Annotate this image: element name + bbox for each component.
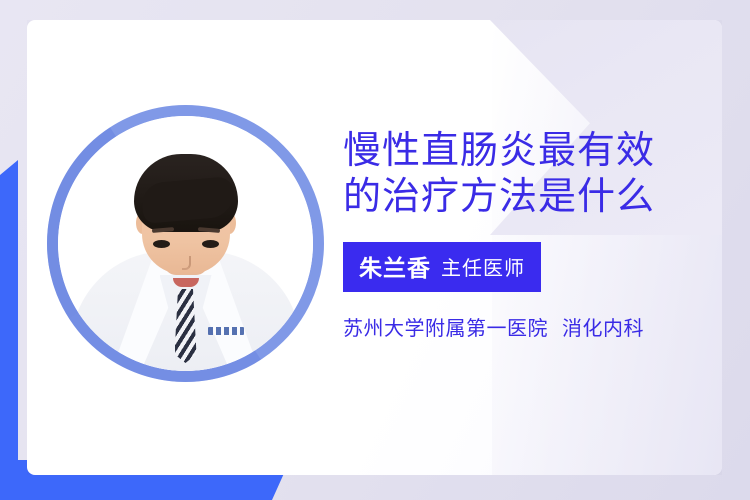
- doctor-affiliation: 苏州大学附属第一医院消化内科: [343, 312, 693, 341]
- doctor-department: 消化内科: [562, 318, 644, 340]
- portrait-eye-left: [153, 240, 170, 248]
- portrait-nose: [182, 256, 191, 270]
- portrait-hair: [134, 154, 238, 232]
- portrait-eye-right: [202, 240, 219, 248]
- portrait-coat-logo: [208, 327, 244, 335]
- text-column: 慢性直肠炎最有效 的治疗方法是什么 朱兰香主任医师 苏州大学附属第一医院消化内科: [343, 128, 693, 341]
- avatar-portrait-image: [58, 116, 313, 371]
- avatar[interactable]: [47, 105, 324, 382]
- doctor-role: 主任医师: [441, 258, 525, 280]
- article-title: 慢性直肠炎最有效 的治疗方法是什么: [343, 128, 693, 220]
- doctor-badge: 朱兰香主任医师: [343, 242, 541, 292]
- doctor-hospital: 苏州大学附属第一医院: [343, 318, 548, 340]
- doctor-name: 朱兰香: [359, 255, 431, 281]
- poster-stage: 慢性直肠炎最有效 的治疗方法是什么 朱兰香主任医师 苏州大学附属第一医院消化内科: [0, 0, 750, 500]
- portrait-mouth: [173, 278, 199, 287]
- portrait-striped-tie: [175, 289, 197, 363]
